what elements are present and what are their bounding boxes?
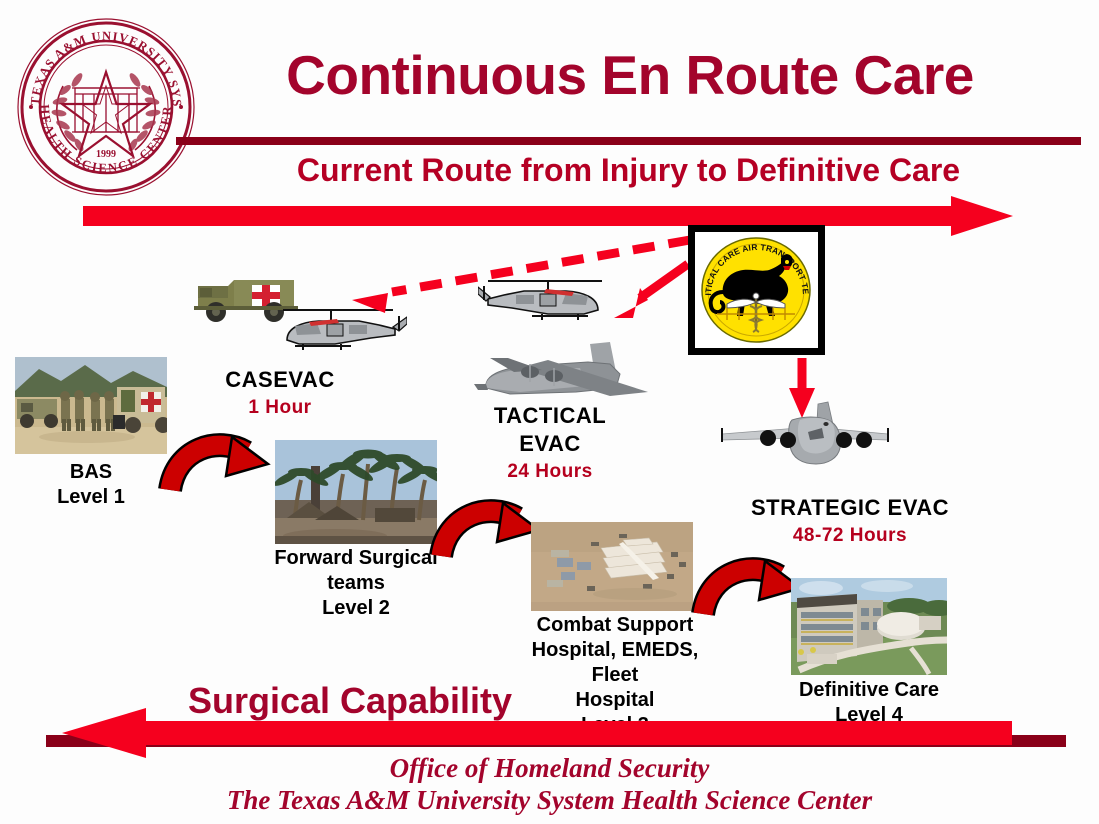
definitive-label-line1: Definitive Care xyxy=(799,679,939,701)
fst-label-line3: Level 2 xyxy=(322,597,390,619)
tactical-evac-time: 24 Hours xyxy=(420,458,680,486)
photo-bas xyxy=(15,357,167,454)
caption-bas: BAS Level 1 xyxy=(15,460,167,510)
casevac-label-group: CASEVAC 1 Hour xyxy=(150,366,410,422)
page-title: Continuous En Route Care xyxy=(215,43,1045,107)
helicopter-tactical xyxy=(478,272,610,335)
bas-label-line2: Level 1 xyxy=(57,486,125,508)
strategic-evac-label-group: STRATEGIC EVAC 48-72 Hours xyxy=(685,494,1015,550)
fst-label-line2: teams xyxy=(327,572,385,594)
slide-canvas: THE TEXAS A&M UNIVERSITY SYSTEM HEALTH S… xyxy=(0,0,1099,824)
photo-combat-support-hospital xyxy=(531,522,693,611)
fst-label-line1: Forward Surgical xyxy=(274,547,437,569)
strategic-evac-time: 48-72 Hours xyxy=(685,522,1015,550)
photo-definitive-care xyxy=(791,578,947,675)
casevac-time: 1 Hour xyxy=(150,394,410,422)
tactical-evac-title-line2: EVAC xyxy=(519,431,581,456)
bas-label-line1: BAS xyxy=(70,461,112,483)
tactical-evac-label-group: TACTICAL EVAC 24 Hours xyxy=(420,402,680,486)
ccatt-patch: CRITICAL CARE AIR TRANSPORT TEAM xyxy=(688,225,825,355)
strategic-evac-title: STRATEGIC EVAC xyxy=(751,495,949,520)
forward-flow-arrow xyxy=(83,196,1013,236)
title-divider xyxy=(176,137,1081,145)
surgical-capability-label: Surgical Capability xyxy=(150,680,550,722)
footer-line-2: The Texas A&M University System Health S… xyxy=(0,784,1099,816)
footer: Office of Homeland Security The Texas A&… xyxy=(0,752,1099,816)
footer-line-1: Office of Homeland Security xyxy=(0,752,1099,784)
tactical-evac-title-line1: TACTICAL xyxy=(494,403,606,428)
photo-forward-surgical-teams xyxy=(275,440,437,544)
seal-year: 1999 xyxy=(96,149,116,160)
caption-forward-surgical-teams: Forward Surgical teams Level 2 xyxy=(256,546,456,621)
page-subtitle: Current Route from Injury to Definitive … xyxy=(176,152,1081,189)
csh-label-line2: Hospital, EMEDS, Fleet xyxy=(532,639,699,686)
helicopter-casevac xyxy=(275,300,407,365)
casevac-title: CASEVAC xyxy=(225,367,334,392)
csh-label-line1: Combat Support xyxy=(537,614,694,636)
tamu-health-science-center-seal: THE TEXAS A&M UNIVERSITY SYSTEM HEALTH S… xyxy=(15,16,197,198)
c17-cargo-plane xyxy=(712,398,898,477)
